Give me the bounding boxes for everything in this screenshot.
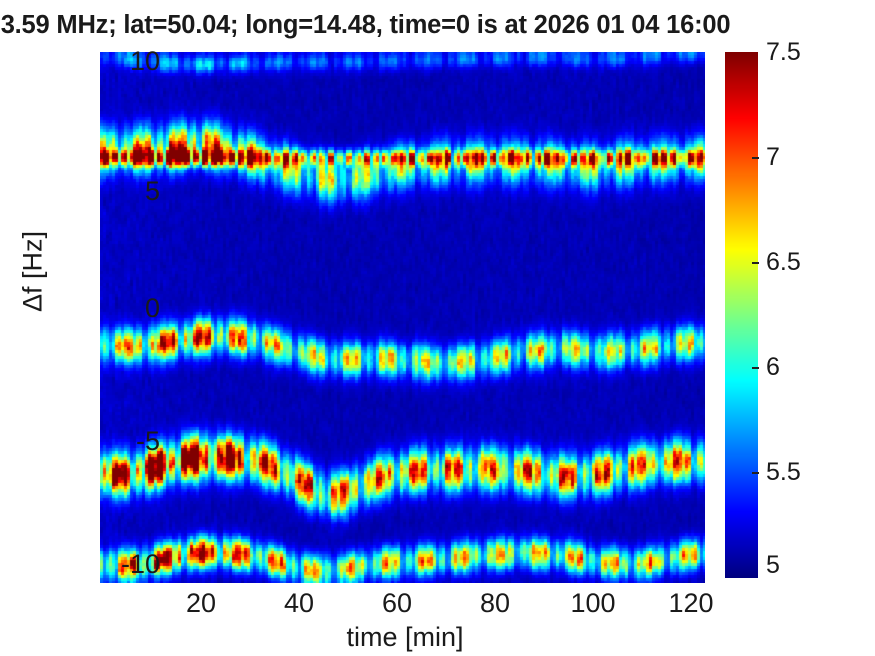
- colorbar-tick-6: 6: [766, 355, 780, 380]
- colorbar-tick-7p5: 7.5: [766, 40, 801, 65]
- y-tick-neg10: -10: [100, 551, 160, 578]
- x-tick-80: 80: [450, 590, 540, 617]
- colorbar-tickmark-6p5: [752, 262, 759, 264]
- x-tick-60: 60: [352, 590, 442, 617]
- y-tick-5: 5: [100, 178, 160, 205]
- y-tick-neg5: -5: [100, 428, 160, 455]
- colorbar-tick-7: 7: [766, 145, 780, 170]
- colorbar-tick-6p5: 6.5: [766, 250, 801, 275]
- plot-title: =3.59 MHz; lat=50.04; long=14.48, time=0…: [0, 8, 846, 42]
- spectrogram-image: [100, 52, 705, 583]
- colorbar: [725, 52, 758, 578]
- colorbar-tickmark-6: [752, 367, 759, 369]
- x-tick-40: 40: [254, 590, 344, 617]
- spectrogram-plot-area: [100, 52, 705, 583]
- colorbar-tickmark-7: [752, 157, 759, 159]
- x-axis-label: time [min]: [210, 622, 600, 653]
- x-tick-100: 100: [548, 590, 638, 617]
- y-tick-0: 0: [100, 295, 160, 322]
- colorbar-tickmark-5p5: [752, 472, 759, 474]
- colorbar-gradient: [725, 52, 758, 578]
- x-tick-20: 20: [156, 590, 246, 617]
- x-tick-120: 120: [646, 590, 736, 617]
- colorbar-tick-5: 5: [766, 553, 780, 578]
- y-tick-10: 10: [100, 48, 160, 75]
- y-axis-label: Δf [Hz]: [18, 202, 49, 342]
- colorbar-tick-5p5: 5.5: [766, 460, 801, 485]
